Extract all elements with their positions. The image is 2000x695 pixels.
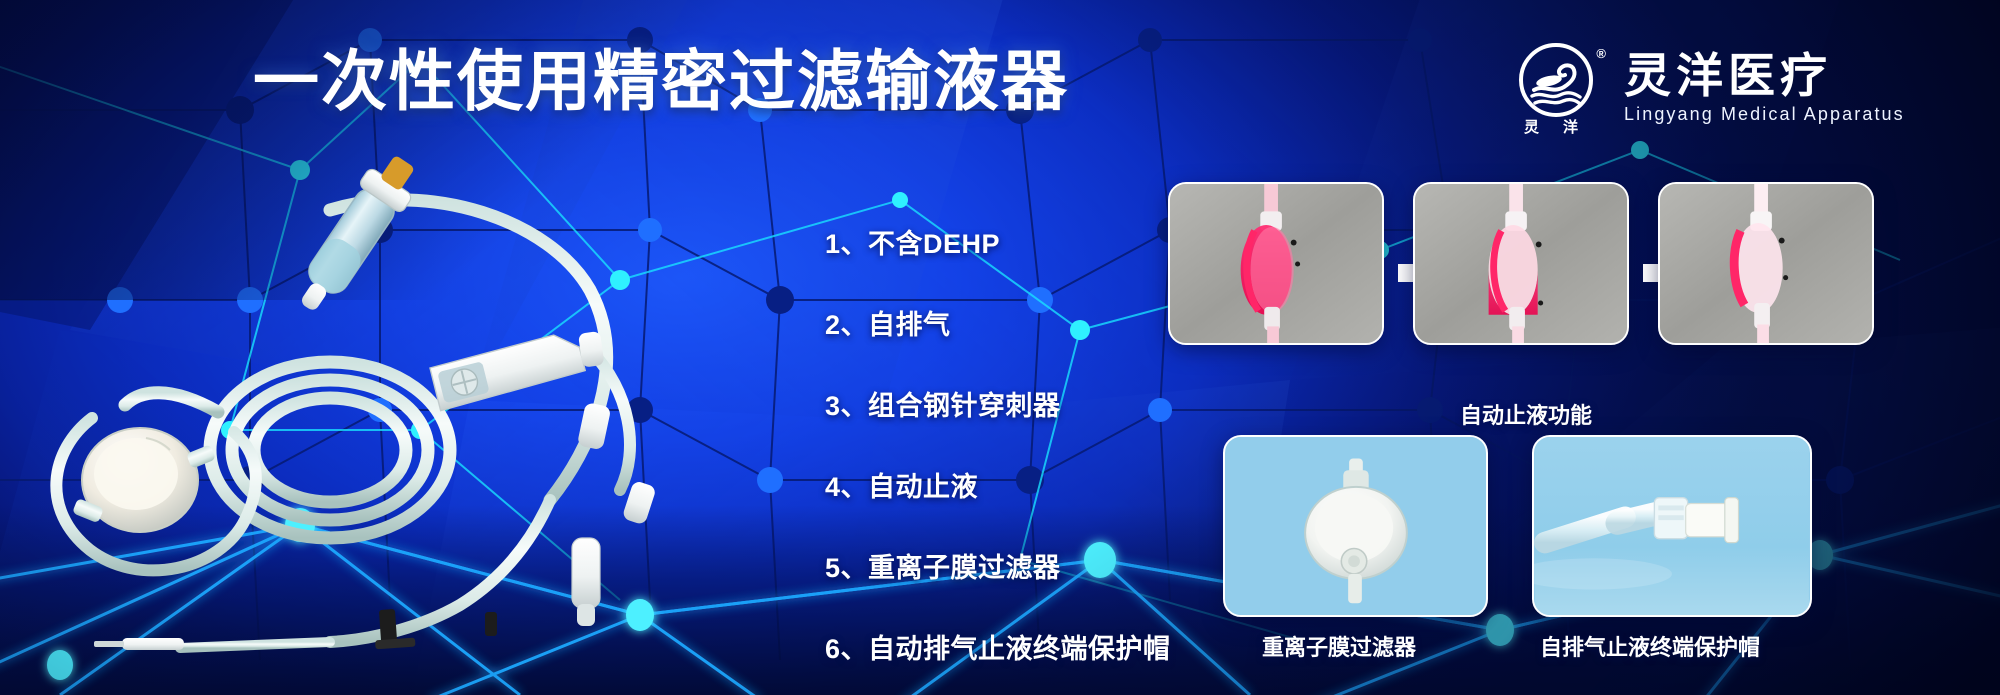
filter-photo-panel <box>1223 435 1488 617</box>
drip-chamber-low-icon <box>1660 184 1872 343</box>
company-name-en: Lingyang Medical Apparatus <box>1624 104 1905 125</box>
registered-trademark-icon: ® <box>1596 46 1606 61</box>
feature-item-5: 5、重离子膜过滤器 <box>825 546 1171 585</box>
heavy-ion-membrane-filter-icon <box>1225 437 1486 615</box>
drip-chamber-full-icon <box>1170 184 1382 343</box>
emblem-subtitle: 灵 洋 <box>1512 116 1590 137</box>
feature-item-3: 3、组合钢针穿刺器 <box>825 384 1171 423</box>
brand-logo: ® 灵 洋 灵洋医疗 Lingyang Medical Apparatus <box>1512 40 1905 136</box>
drip-chamber-half-icon <box>1415 184 1627 343</box>
end-cap-photo-panel <box>1532 435 1812 617</box>
product-photo-infusion-set <box>30 150 750 670</box>
stop-sequence-photo-3 <box>1658 182 1874 345</box>
lingyang-emblem-icon: ® 灵 洋 <box>1512 40 1604 136</box>
company-name-cn: 灵洋医疗 <box>1624 51 1905 100</box>
caption-filter: 重离子膜过滤器 <box>1262 630 1416 662</box>
feature-list: 1、不含DEHP 2、自排气 3、组合钢针穿刺器 4、自动止液 5、重离子膜过滤… <box>825 222 1171 666</box>
feature-item-1: 1、不含DEHP <box>825 222 1171 261</box>
brand-text: 灵洋医疗 Lingyang Medical Apparatus <box>1624 51 1905 124</box>
emblem-subtitle-right: 洋 <box>1563 116 1578 137</box>
caption-stop-sequence: 自动止液功能 <box>1460 398 1592 430</box>
emblem-circle-icon <box>1512 40 1604 122</box>
stop-sequence-photo-1 <box>1168 182 1384 345</box>
stop-sequence-photo-2 <box>1413 182 1629 345</box>
feature-item-2: 2、自排气 <box>825 303 1171 342</box>
banner-root: 一次性使用精密过滤输液器 ® 灵 洋 灵洋医疗 Lingyang Medical… <box>0 0 2000 695</box>
feature-item-4: 4、自动止液 <box>825 465 1171 504</box>
feature-item-6: 6、自动排气止液终端保护帽 <box>825 627 1171 666</box>
page-title: 一次性使用精密过滤输液器 <box>253 48 1069 114</box>
caption-end-cap: 自排气止液终端保护帽 <box>1540 630 1760 662</box>
emblem-subtitle-left: 灵 <box>1524 116 1539 137</box>
self-venting-end-cap-icon <box>1534 437 1810 615</box>
